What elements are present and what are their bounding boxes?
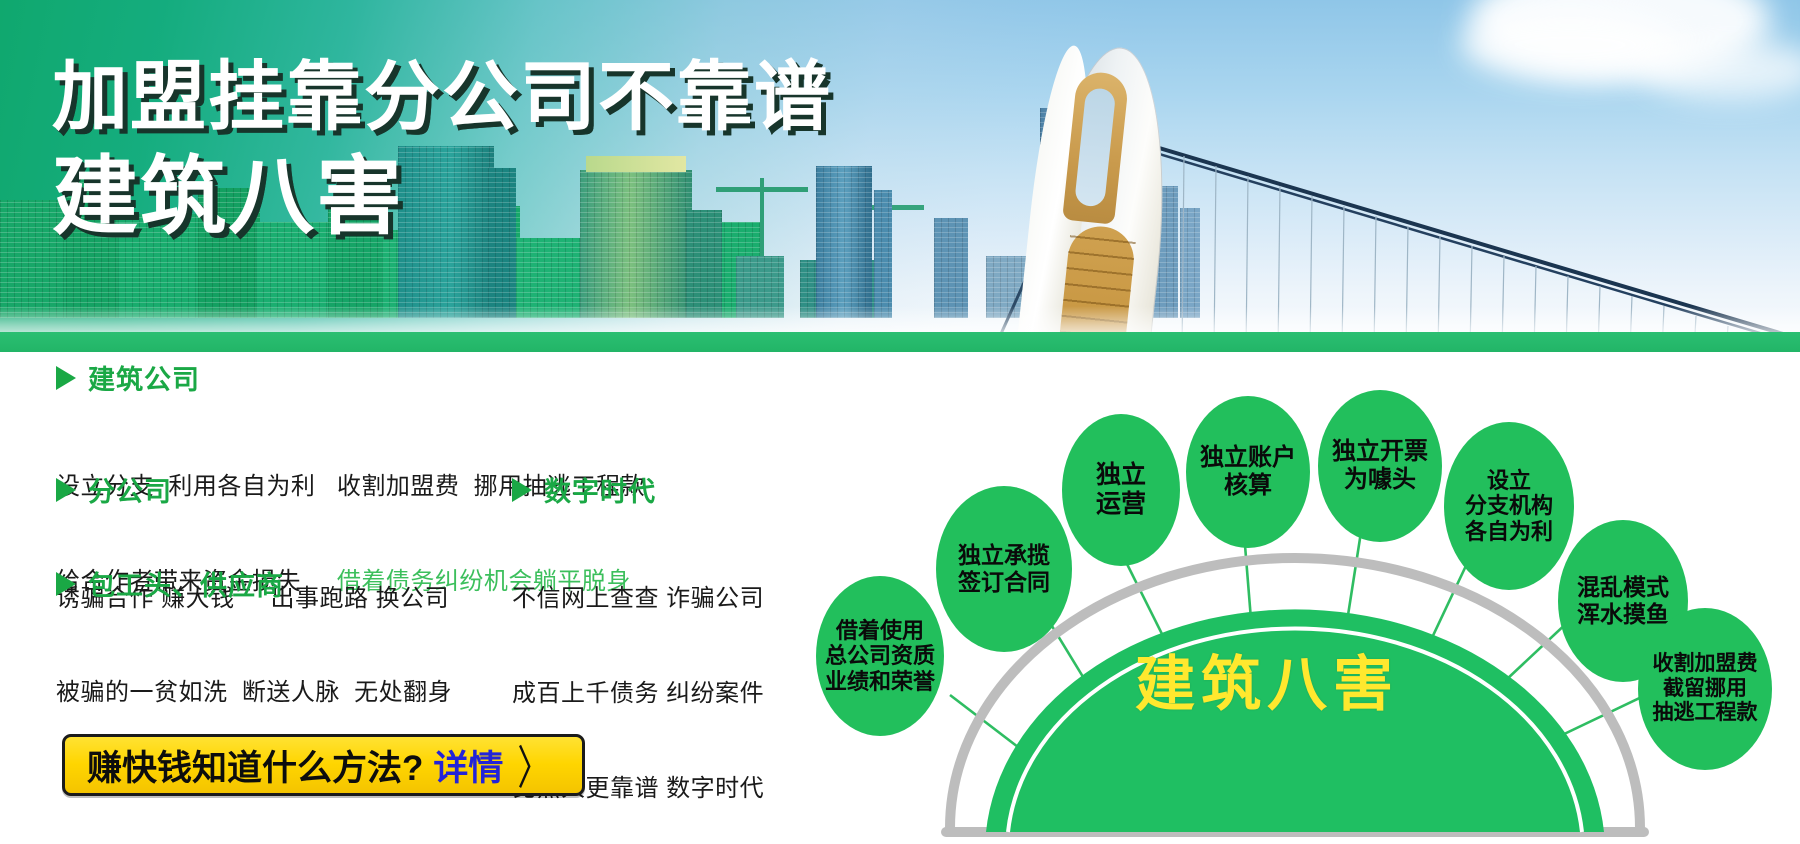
section-body-line: 成百上千债务 纠纷案件 — [512, 678, 764, 710]
section-title: 建筑公司 — [88, 358, 200, 397]
triangle-bullet-icon — [56, 366, 76, 390]
section-heading: 建筑公司 — [56, 358, 645, 397]
headline: 加盟挂靠分公司不靠谱 建筑八害 — [52, 58, 832, 242]
eight-harms-diagram: 借着使用 总公司资质 业绩和荣誉 独立承揽 签订合同 独立 运营 独立账户 核算… — [790, 340, 1800, 844]
bubble-item[interactable]: 收割加盟费 截留挪用 抽逃工程款 — [1638, 608, 1772, 770]
cta-question-text: 赚快钱知道什么方法? — [87, 740, 423, 791]
triangle-bullet-icon — [56, 478, 76, 502]
section-heading: 分公司 — [56, 470, 449, 509]
section-body-line: 不信网上查查 诈骗公司 — [512, 583, 764, 615]
dome-label: 建筑八害 — [1135, 636, 1399, 723]
banner-haze — [0, 306, 1800, 334]
headline-line-1: 加盟挂靠分公司不靠谱 — [52, 58, 832, 138]
triangle-bullet-icon — [56, 572, 76, 596]
section-heading: 包工头、供应商 — [56, 564, 452, 603]
bubble-item[interactable]: 设立 分支机构 各自为利 — [1444, 422, 1574, 590]
bridge-illustration — [1000, 36, 1800, 352]
section-title: 数字时代 — [544, 470, 656, 509]
cta-button[interactable]: 赚快钱知道什么方法? 详情 〉 — [62, 734, 585, 796]
bubble-item[interactable]: 独立承揽 签订合同 — [936, 486, 1072, 652]
bubble-item[interactable]: 独立账户 核算 — [1186, 396, 1310, 548]
poster-root: 加盟挂靠分公司不靠谱 建筑八害 建筑公司 设立分支 利用各自为利 收割加盟费 挪… — [0, 0, 1800, 844]
section-title: 包工头、供应商 — [88, 564, 284, 603]
left-content-panel: 建筑公司 设立分支 利用各自为利 收割加盟费 挪用抽逃工程款 给合作者带来资金损… — [0, 352, 800, 844]
headline-line-2: 建筑八害 — [52, 152, 832, 242]
bubble-item[interactable]: 独立 运营 — [1062, 414, 1180, 566]
section-title: 分公司 — [88, 470, 172, 509]
chevron-right-icon: 〉 — [517, 732, 549, 799]
bubble-item[interactable]: 借着使用 总公司资质 业绩和荣誉 — [816, 576, 944, 736]
section-heading: 数字时代 — [512, 470, 764, 509]
cta-link-text[interactable]: 详情 — [433, 740, 503, 791]
bubble-item[interactable]: 独立开票 为噱头 — [1318, 390, 1442, 542]
triangle-bullet-icon — [512, 478, 532, 502]
hero-banner: 加盟挂靠分公司不靠谱 建筑八害 — [0, 0, 1800, 352]
section-body-line: 被骗的一贫如洗 断送人脉 无处翻身 — [56, 677, 452, 709]
